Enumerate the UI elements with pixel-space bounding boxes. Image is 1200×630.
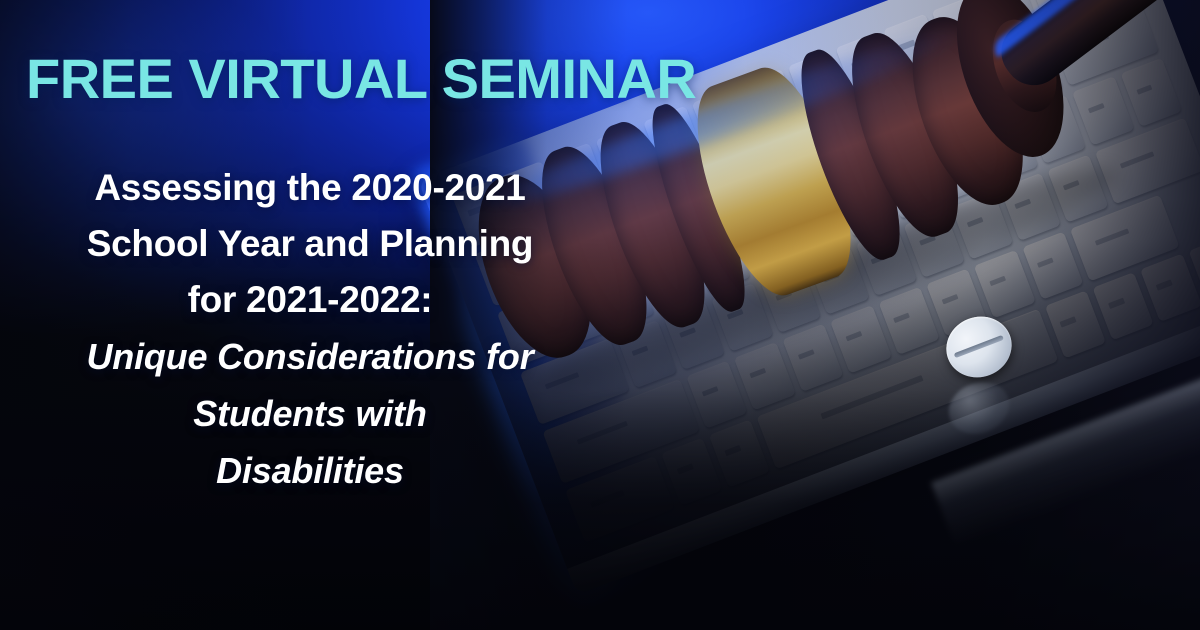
eyebrow-headline: FREE VIRTUAL SEMINAR <box>26 46 696 111</box>
title-line-3: for 2021-2022: <box>10 272 610 328</box>
title-block: Assessing the 2020-2021 School Year and … <box>10 160 610 499</box>
seminar-promo-banner: FREE VIRTUAL SEMINAR Assessing the 2020-… <box>0 0 1200 630</box>
subtitle-line-1: Unique Considerations for <box>10 328 610 385</box>
title-line-1: Assessing the 2020-2021 <box>10 160 610 216</box>
text-layer: FREE VIRTUAL SEMINAR Assessing the 2020-… <box>0 0 1200 630</box>
subtitle-line-2: Students with <box>10 385 610 442</box>
subtitle-line-3: Disabilities <box>10 442 610 499</box>
title-line-2: School Year and Planning <box>10 216 610 272</box>
